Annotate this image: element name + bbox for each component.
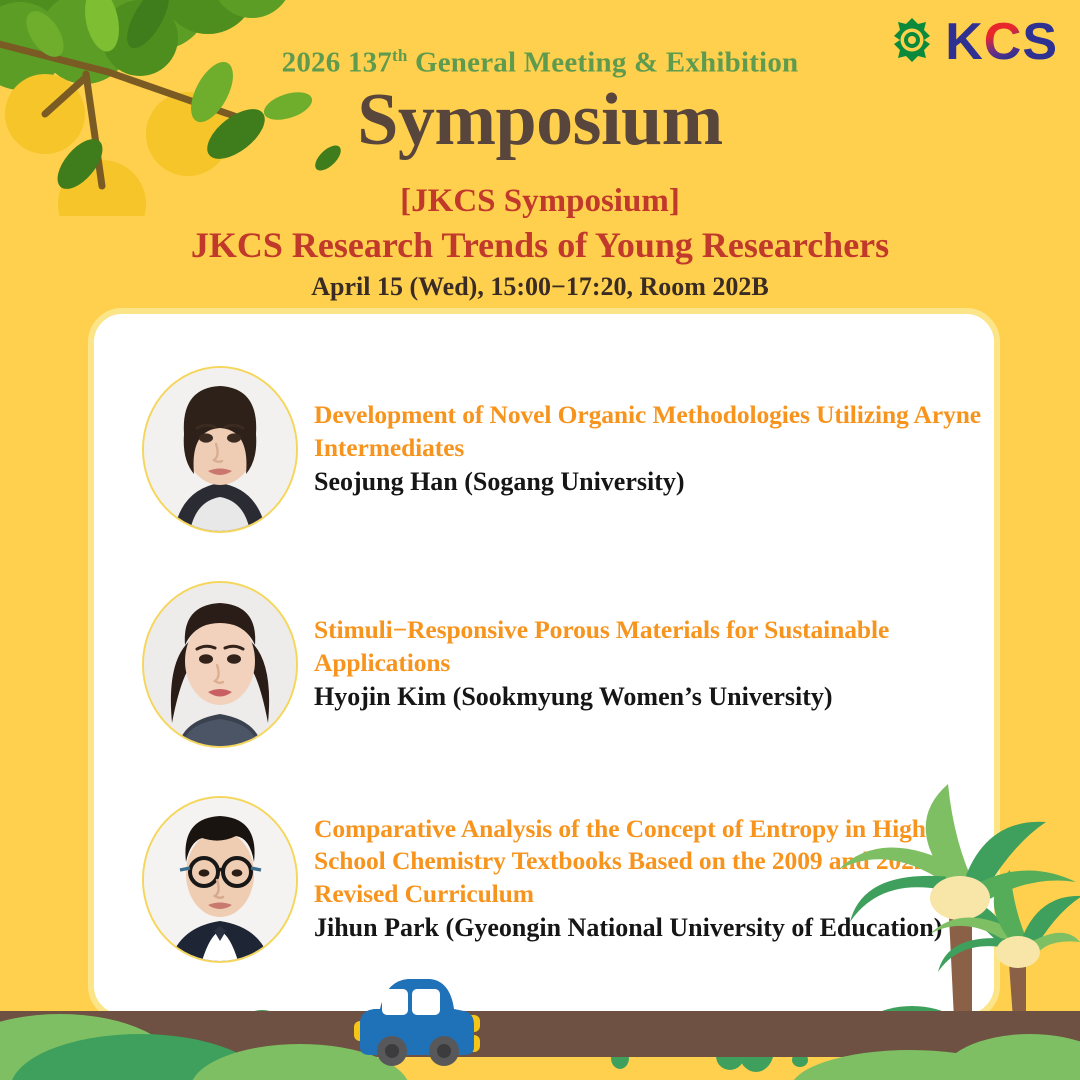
- car-headlights: [354, 1015, 480, 1052]
- eyebrow-prefix: 2026 137: [282, 47, 392, 79]
- speaker-name-affiliation: Hyojin Kim (Sookmyung Women’s University…: [314, 680, 1000, 714]
- poster-header: 2026 137th General Meeting & Exhibition …: [0, 0, 1080, 302]
- speaker-photo-jihun-park: [142, 796, 298, 963]
- speaker-text-block: Development of Novel Organic Methodologi…: [298, 399, 1000, 499]
- session-title: JKCS Research Trends of Young Researcher…: [0, 223, 1080, 268]
- speaker-name-affiliation: Jihun Park (Gyeongin National University…: [314, 911, 1000, 945]
- foreground-hills: [0, 1014, 1080, 1080]
- eyebrow-suffix: General Meeting & Exhibition: [408, 47, 799, 79]
- list-item: Stimuli−Responsive Porous Materials for …: [88, 571, 1000, 757]
- page-title: Symposium: [0, 82, 1080, 160]
- list-item: Development of Novel Organic Methodologi…: [88, 356, 1000, 542]
- bush-group-center: [611, 1028, 808, 1072]
- eyebrow-ordinal-suffix: th: [392, 46, 408, 65]
- speaker-text-block: Comparative Analysis of the Concept of E…: [298, 813, 1000, 945]
- talk-title: Stimuli−Responsive Porous Materials for …: [314, 614, 1000, 679]
- session-tag: [JKCS Symposium]: [0, 181, 1080, 222]
- speaker-photo-seojung-han: [142, 366, 298, 533]
- speaker-photo-hyojin-kim: [142, 581, 298, 748]
- speaker-list: Development of Novel Organic Methodologi…: [88, 308, 1000, 1020]
- speaker-name-affiliation: Seojung Han (Sogang University): [314, 465, 1000, 499]
- session-datetime-room: April 15 (Wed), 15:00−17:20, Room 202B: [0, 272, 1080, 302]
- speaker-text-block: Stimuli−Responsive Porous Materials for …: [298, 614, 1000, 714]
- talk-title: Development of Novel Organic Methodologi…: [314, 399, 1000, 464]
- talk-title: Comparative Analysis of the Concept of E…: [314, 813, 1000, 910]
- car-wheels: [377, 1036, 459, 1066]
- list-item: Comparative Analysis of the Concept of E…: [88, 786, 1000, 972]
- event-eyebrow: 2026 137th General Meeting & Exhibition: [0, 46, 1080, 80]
- poster-canvas: KCS 2026 137th General Meeting & Exhibit…: [0, 0, 1080, 1080]
